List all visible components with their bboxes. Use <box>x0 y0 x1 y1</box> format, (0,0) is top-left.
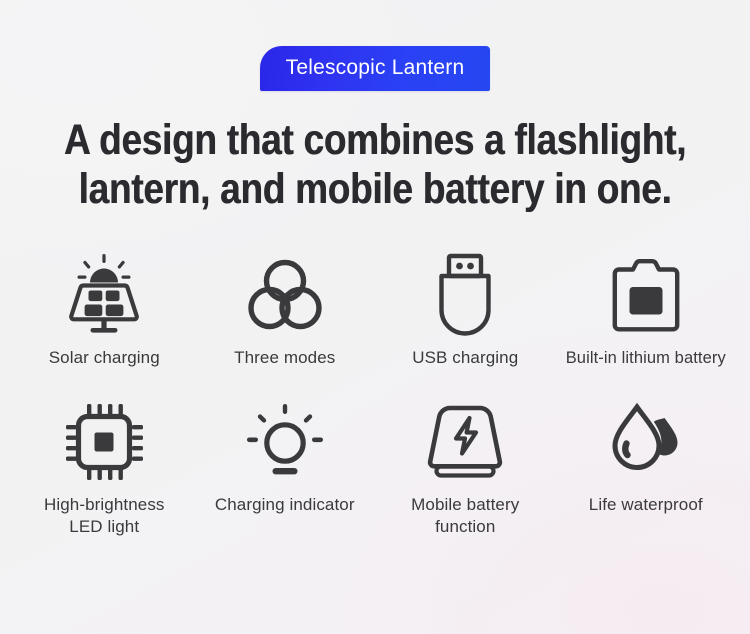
feature-label: USB charging <box>412 347 518 369</box>
headline-line-1: A design that combines a flashlight, <box>59 116 690 165</box>
feature-charging-indicator: Charging indicator <box>195 399 376 538</box>
battery-icon <box>611 252 681 338</box>
usb-drive-icon <box>432 252 498 338</box>
feature-label: Solar charging <box>49 347 160 369</box>
headline-line-2: lantern, and mobile battery in one. <box>59 165 690 214</box>
headline: A design that combines a flashlight, lan… <box>53 116 698 214</box>
power-bank-icon <box>426 399 504 485</box>
feature-row-1: Solar charging Three modes <box>0 252 750 369</box>
led-chip-icon <box>63 399 145 485</box>
light-bulb-icon <box>245 399 325 485</box>
feature-solar-charging: Solar charging <box>14 252 195 369</box>
feature-label: Three modes <box>234 347 335 369</box>
badge-row: Telescopic Lantern <box>0 46 750 91</box>
feature-lithium-battery: Built-in lithium battery <box>556 252 737 369</box>
feature-label: Mobile battery function <box>411 494 519 538</box>
feature-life-waterproof: Life waterproof <box>556 399 737 538</box>
solar-panel-icon <box>62 252 146 338</box>
feature-label: Built-in lithium battery <box>566 347 726 369</box>
three-circles-icon <box>245 252 325 338</box>
feature-usb-charging: USB charging <box>375 252 556 369</box>
feature-led-light: High-brightness LED light <box>14 399 195 538</box>
feature-mobile-battery-function: Mobile battery function <box>375 399 556 538</box>
feature-grid: Solar charging Three modes <box>0 252 750 538</box>
product-badge: Telescopic Lantern <box>260 46 491 91</box>
feature-three-modes: Three modes <box>195 252 376 369</box>
water-drop-icon <box>606 399 686 485</box>
feature-row-2: High-brightness LED light <box>0 399 750 538</box>
infographic-page: Telescopic Lantern A design that combine… <box>0 0 750 634</box>
feature-label: High-brightness LED light <box>44 494 165 538</box>
feature-label: Charging indicator <box>215 494 355 516</box>
feature-label: Life waterproof <box>589 494 703 516</box>
